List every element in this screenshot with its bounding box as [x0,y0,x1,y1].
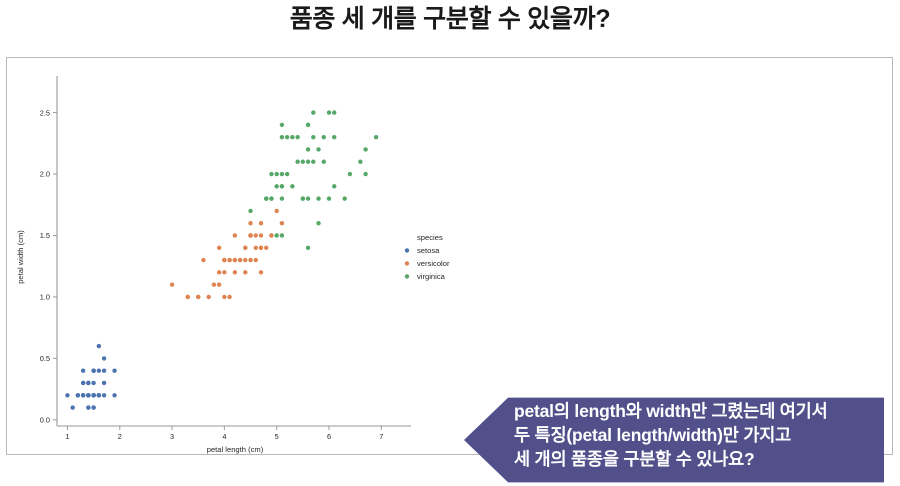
data-point [316,147,320,151]
data-point [374,135,378,139]
data-point [102,356,106,360]
data-point [306,147,310,151]
data-point [86,405,90,409]
data-point [102,368,106,372]
data-point [322,160,326,164]
data-point [280,172,284,176]
x-tick-label: 7 [379,432,383,441]
data-point [285,135,289,139]
legend-label-virginica: virginica [417,272,446,281]
data-point [280,184,284,188]
y-tick-label: 0.0 [40,416,50,425]
data-point [342,196,346,200]
x-tick-label: 6 [327,432,331,441]
data-point [243,270,247,274]
data-point [102,381,106,385]
data-point [248,233,252,237]
data-point [248,221,252,225]
data-point [264,196,268,200]
data-point [301,160,305,164]
data-point [332,184,336,188]
legend-label-versicolor: versicolor [417,259,450,268]
data-point [280,196,284,200]
data-point [290,135,294,139]
series-setosa [65,344,116,410]
y-tick-label: 2.5 [40,108,50,117]
data-point [290,184,294,188]
data-point [363,147,367,151]
x-tick-label: 3 [170,432,174,441]
data-point [97,393,101,397]
data-point [295,160,299,164]
legend-title: species [417,233,443,242]
data-point [97,368,101,372]
data-point [280,233,284,237]
data-point [254,233,258,237]
data-point [76,393,80,397]
data-point [238,258,242,262]
data-point [186,295,190,299]
data-point [91,393,95,397]
data-point [112,368,116,372]
data-point [311,110,315,114]
data-point [243,246,247,250]
data-point [280,123,284,127]
data-point [259,233,263,237]
series-virginica [248,110,378,250]
data-point [269,233,273,237]
data-point [102,393,106,397]
data-point [233,270,237,274]
legend-label-setosa: setosa [417,246,440,255]
x-tick-label: 1 [65,432,69,441]
data-point [243,258,247,262]
data-point [274,172,278,176]
data-point [217,246,221,250]
data-point [222,258,226,262]
data-point [91,368,95,372]
callout-line-2: 두 특징(petal length/width)만 가지고 [514,424,878,448]
data-point [316,221,320,225]
callout-box: petal의 length와 width만 그렸는데 여기서 두 특징(peta… [464,394,884,486]
data-point [222,295,226,299]
data-point [217,270,221,274]
data-point [248,258,252,262]
x-tick-label: 5 [275,432,279,441]
y-tick-label: 1.0 [40,293,50,302]
legend-marker-versicolor [405,261,409,265]
data-point [233,258,237,262]
data-point [254,246,258,250]
data-point [311,135,315,139]
data-point [295,135,299,139]
data-point [306,160,310,164]
callout-text: petal의 length와 width만 그렸는데 여기서 두 특징(peta… [514,400,878,472]
data-point [81,381,85,385]
data-point [201,258,205,262]
callout-line-1: petal의 length와 width만 그렸는데 여기서 [514,400,878,424]
data-point [332,110,336,114]
data-point [212,282,216,286]
data-point [306,196,310,200]
data-point [81,368,85,372]
data-point [86,393,90,397]
data-point [170,282,174,286]
data-point [70,405,74,409]
data-point [327,196,331,200]
data-point [217,282,221,286]
data-point [274,184,278,188]
data-point [227,295,231,299]
x-tick-label: 2 [118,432,122,441]
data-point [112,393,116,397]
page-title: 품종 세 개를 구분할 수 있을까? [0,4,900,35]
data-point [233,233,237,237]
y-tick-label: 0.5 [40,354,50,363]
data-point [91,405,95,409]
data-point [227,258,231,262]
series-versicolor [170,196,284,299]
data-point [254,258,258,262]
y-tick-label: 2.0 [40,170,50,179]
data-point [222,270,226,274]
data-point [81,393,85,397]
data-point [259,221,263,225]
data-point [316,196,320,200]
data-point [348,172,352,176]
legend-marker-setosa [405,248,409,252]
data-point [358,160,362,164]
data-point [280,135,284,139]
data-point [301,196,305,200]
data-point [274,233,278,237]
legend-marker-virginica [405,274,409,278]
y-tick-label: 1.5 [40,231,50,240]
x-tick-label: 4 [222,432,226,441]
data-point [306,123,310,127]
callout-line-3: 세 개의 품종을 구분할 수 있나요? [514,448,878,472]
data-point [363,172,367,176]
data-point [264,246,268,250]
data-point [91,381,95,385]
data-point [196,295,200,299]
data-point [311,160,315,164]
data-point [86,381,90,385]
slide-content-panel: 12345670.00.51.01.52.02.5petal length (c… [6,57,893,455]
data-point [306,246,310,250]
data-point [332,135,336,139]
data-point [97,344,101,348]
data-point [259,270,263,274]
data-point [322,135,326,139]
data-point [248,209,252,213]
data-point [269,196,273,200]
data-point [274,209,278,213]
data-point [269,172,273,176]
y-axis-label: petal width (cm) [16,230,25,284]
data-point [206,295,210,299]
x-axis-label: petal length (cm) [207,445,264,454]
data-point [259,246,263,250]
data-point [65,393,69,397]
data-point [327,110,331,114]
data-point [280,221,284,225]
data-point [285,172,289,176]
